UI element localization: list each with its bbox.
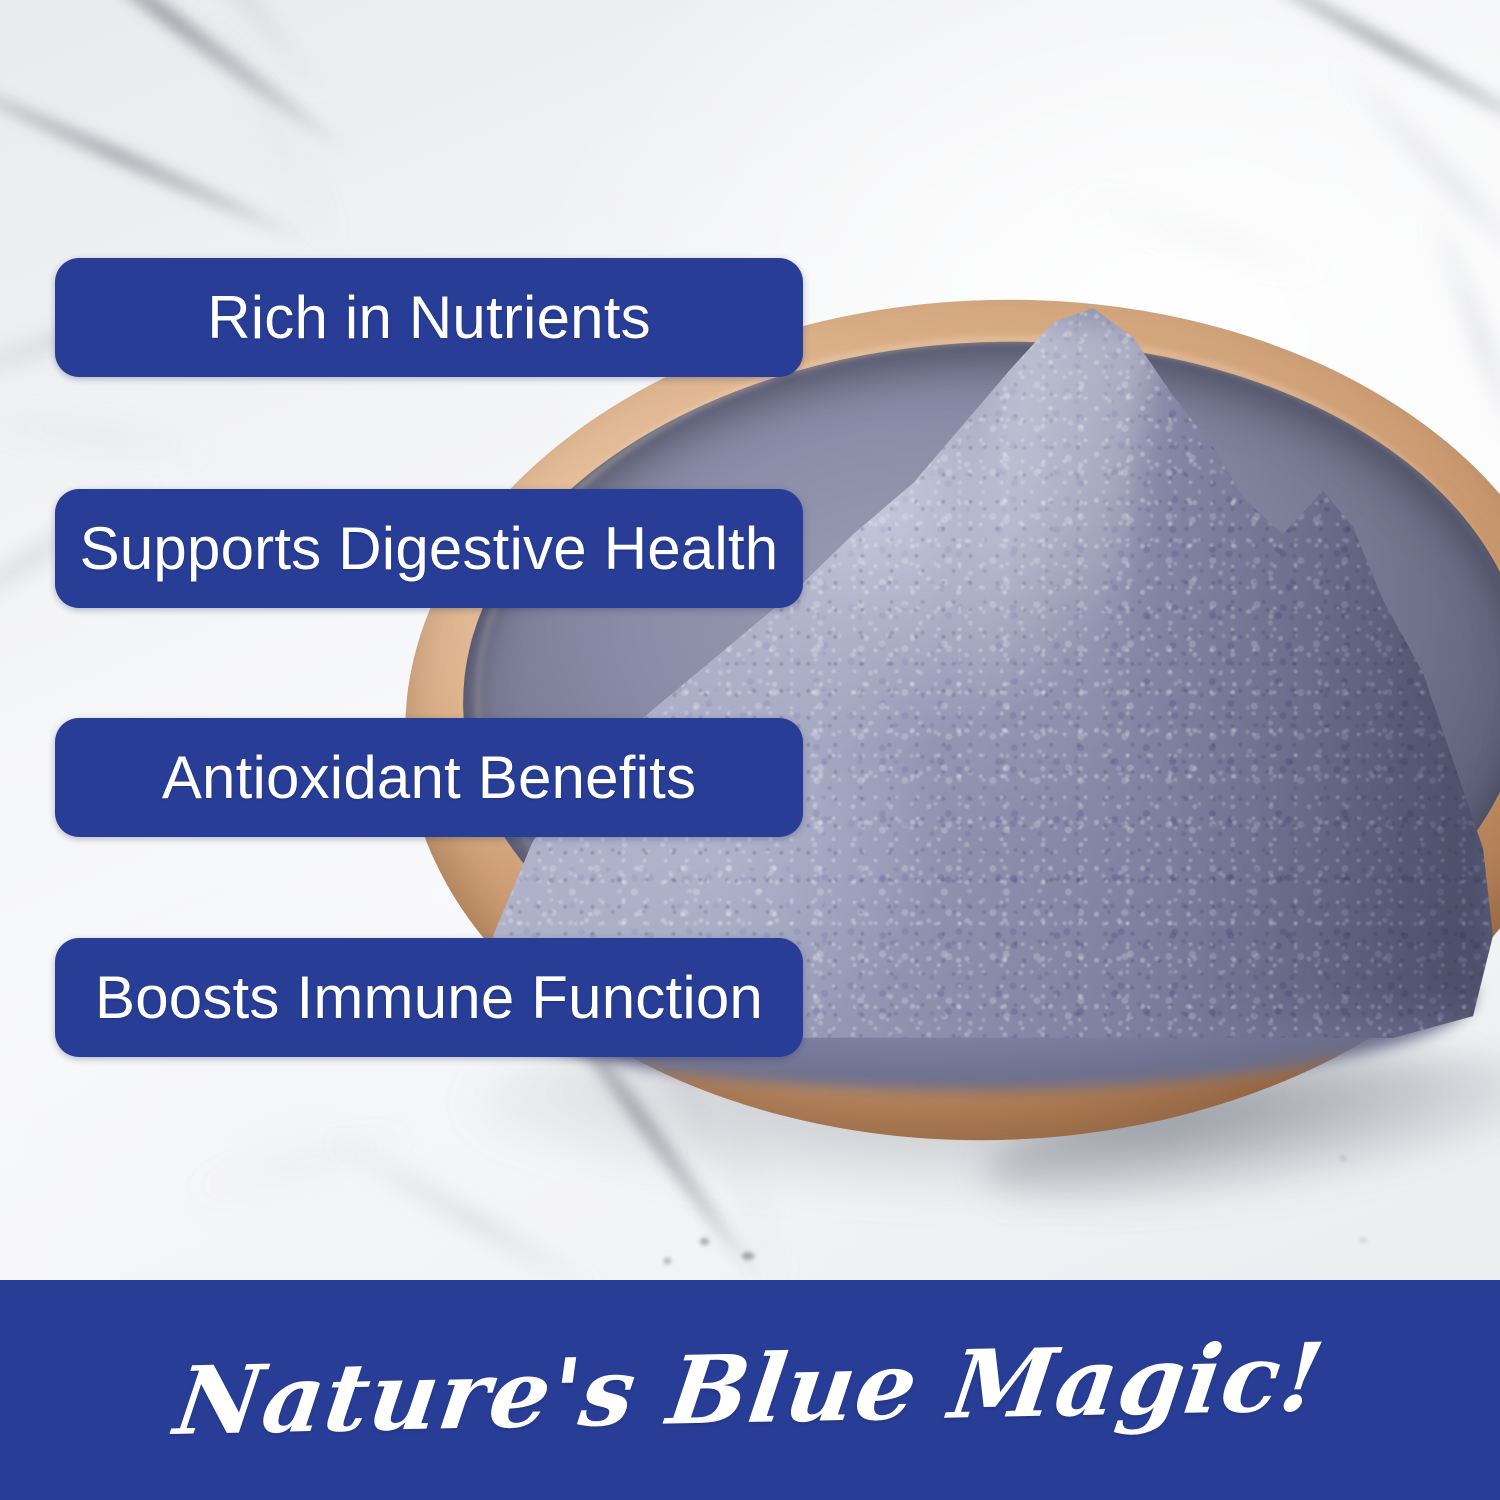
product-benefits-poster: Rich in Nutrients Supports Digestive Hea… xyxy=(0,0,1500,1500)
marble-speck xyxy=(1360,1238,1367,1243)
wood-grain xyxy=(818,1088,1298,1097)
benefit-badge-label: Boosts Immune Function xyxy=(95,963,763,1032)
benefit-badge-label: Antioxidant Benefits xyxy=(162,743,696,812)
marble-speck xyxy=(700,1238,709,1245)
tagline-text: Nature's Blue Magic! xyxy=(169,1323,1331,1457)
benefit-badge-antioxidant-benefits[interactable]: Antioxidant Benefits xyxy=(55,718,803,837)
benefit-badge-label: Rich in Nutrients xyxy=(207,283,651,352)
benefit-badge-rich-in-nutrients[interactable]: Rich in Nutrients xyxy=(55,258,803,377)
tagline-banner: Nature's Blue Magic! xyxy=(0,1280,1500,1500)
benefit-badge-supports-digestive-health[interactable]: Supports Digestive Health xyxy=(55,489,803,608)
marble-speck xyxy=(742,1252,754,1260)
benefit-badge-boosts-immune-function[interactable]: Boosts Immune Function xyxy=(55,938,803,1057)
benefit-badge-label: Supports Digestive Health xyxy=(80,514,779,583)
marble-speck xyxy=(664,1258,671,1264)
